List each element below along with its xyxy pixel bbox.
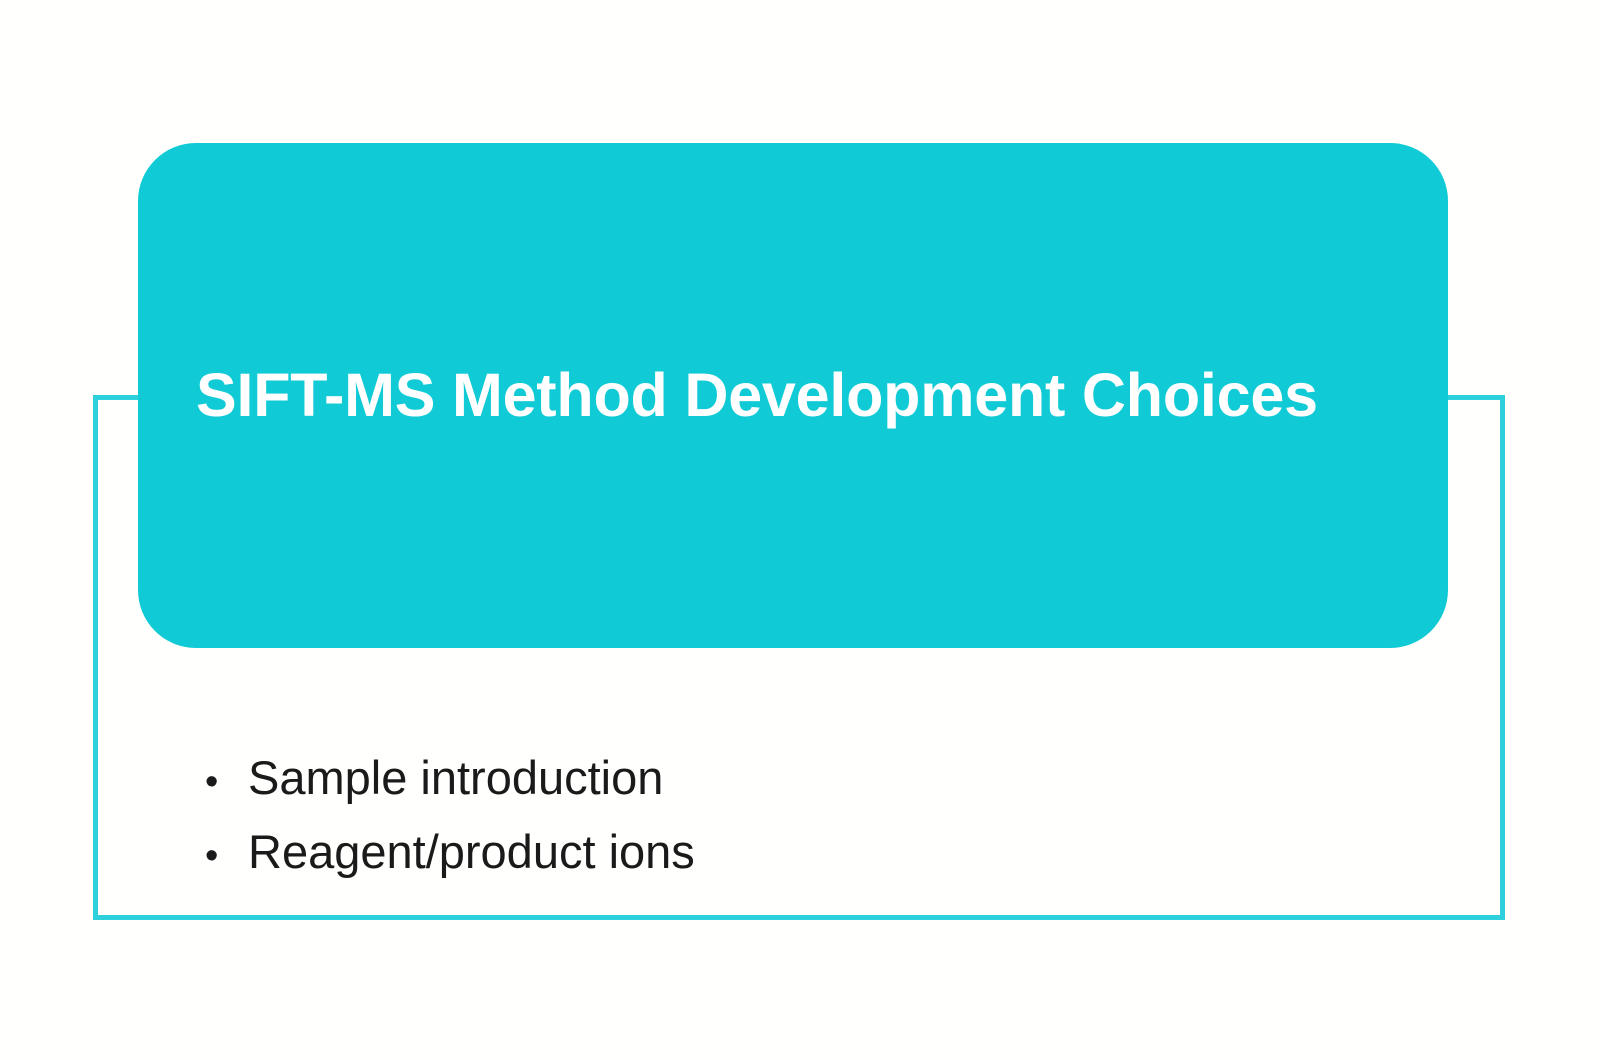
list-item: • Reagent/product ions: [205, 817, 1305, 891]
slide-canvas: SIFT-MS Method Development Choices • Sam…: [0, 0, 1600, 1060]
bullet-list: • Sample introduction • Reagent/product …: [205, 743, 1305, 891]
header-card: SIFT-MS Method Development Choices: [138, 143, 1448, 648]
slide-title: SIFT-MS Method Development Choices: [196, 143, 1396, 648]
bullet-point-icon: •: [205, 822, 248, 891]
list-item: • Sample introduction: [205, 743, 1305, 817]
bullet-item-label: Reagent/product ions: [248, 817, 695, 886]
bullet-item-label: Sample introduction: [248, 743, 663, 812]
bullet-point-icon: •: [205, 748, 248, 817]
